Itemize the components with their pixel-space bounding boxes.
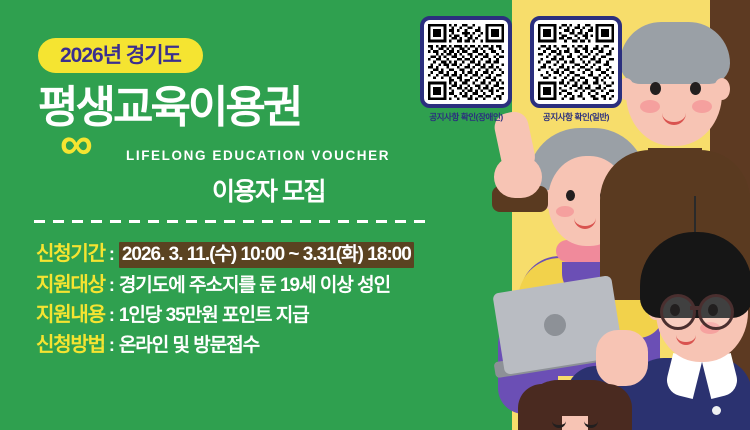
qr-frame[interactable] bbox=[530, 16, 622, 108]
info-value: 경기도에 주소지를 둔 19세 이상 성인 bbox=[119, 274, 390, 298]
qr-block-general[interactable]: 공지사항 확인(일반) bbox=[530, 16, 622, 123]
promo-banner: 2026년 경기도 ∞ 평생교육이용권 LIFELONG EDUCATION V… bbox=[0, 0, 750, 430]
info-value: 1인당 35만원 포인트 지급 bbox=[119, 304, 309, 328]
woman-hair-top bbox=[522, 380, 628, 416]
grandma-cheek-left bbox=[556, 206, 574, 217]
title-english: LIFELONG EDUCATION VOUCHER bbox=[126, 148, 390, 163]
grandpa-ear-right bbox=[714, 78, 730, 100]
info-row-method: 신청방법 : 온라인 및 방문접수 bbox=[36, 333, 496, 358]
info-value: 온라인 및 방문접수 bbox=[119, 334, 259, 358]
dashed-divider bbox=[34, 220, 428, 223]
grandpa-collar bbox=[648, 148, 702, 178]
info-label: 신청기간 bbox=[36, 242, 105, 267]
qr-code-icon[interactable] bbox=[428, 24, 504, 100]
grandpa-cheek-right bbox=[692, 100, 712, 113]
info-row-target: 지원대상 : 경기도에 주소지를 둔 19세 이상 성인 bbox=[36, 273, 496, 298]
grandma-eye-left bbox=[566, 190, 575, 201]
title-subtitle: 이용자 모집 bbox=[212, 172, 325, 208]
grandpa-eye-left bbox=[650, 82, 661, 95]
info-separator: : bbox=[105, 243, 119, 266]
info-row-period: 신청기간 : 2026. 3. 11.(수) 10:00 ~ 3.31(화) 1… bbox=[36, 242, 496, 268]
page-title: 평생교육이용권 bbox=[38, 86, 438, 130]
youngman-button bbox=[712, 406, 721, 415]
glasses-bridge-icon bbox=[690, 306, 700, 310]
info-label: 지원내용 bbox=[36, 303, 105, 328]
info-list: 신청기간 : 2026. 3. 11.(수) 10:00 ~ 3.31(화) 1… bbox=[36, 242, 496, 363]
qr-code-icon[interactable] bbox=[538, 24, 614, 100]
grandpa-hair bbox=[620, 22, 730, 84]
info-value: 2026. 3. 11.(수) 10:00 ~ 3.31(화) 18:00 bbox=[119, 242, 414, 268]
youngman-fist bbox=[596, 330, 648, 386]
qr-caption: 공지사항 확인(일반) bbox=[530, 111, 622, 123]
grandpa-cheek-left bbox=[640, 100, 660, 113]
info-separator: : bbox=[105, 334, 119, 357]
info-separator: : bbox=[105, 274, 119, 297]
info-label: 지원대상 bbox=[36, 273, 105, 298]
year-region-badge: 2026년 경기도 bbox=[38, 38, 203, 73]
title-block: ∞ 평생교육이용권 LIFELONG EDUCATION VOUCHER bbox=[38, 86, 438, 130]
youngman-eye-right bbox=[708, 304, 718, 316]
info-separator: : bbox=[105, 304, 119, 327]
grandpa-eye-right bbox=[690, 82, 701, 95]
info-label: 신청방법 bbox=[36, 333, 105, 358]
youngman-eye-left bbox=[670, 304, 680, 316]
info-row-benefit: 지원내용 : 1인당 35만원 포인트 지급 bbox=[36, 303, 496, 328]
